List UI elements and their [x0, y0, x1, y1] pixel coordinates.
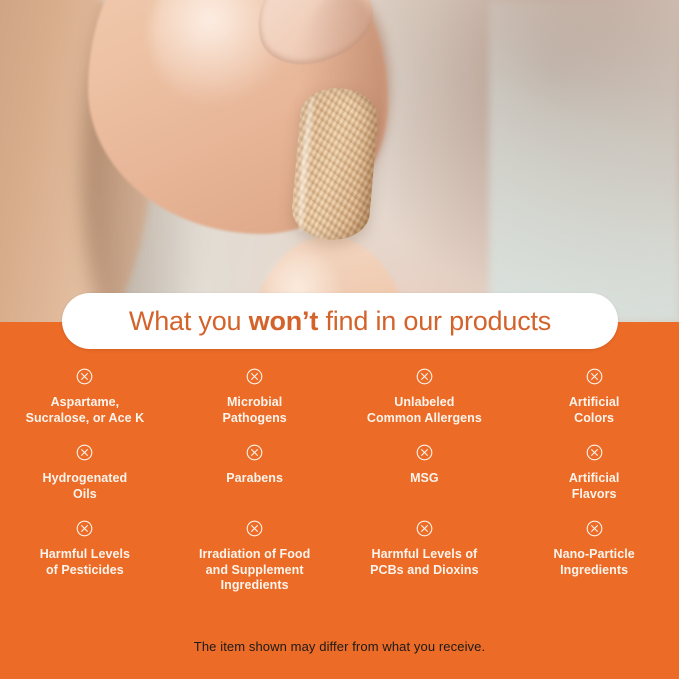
- circle-x-icon: [416, 444, 433, 461]
- excluded-item: Harmful Levels of Pesticides: [0, 520, 170, 594]
- headline-text: What you won’t find in our products: [129, 306, 551, 337]
- excluded-item-label: Unlabeled Common Allergens: [367, 395, 482, 426]
- excluded-item-label: Microbial Pathogens: [222, 395, 286, 426]
- excluded-item: Unlabeled Common Allergens: [340, 368, 510, 426]
- excluded-item: Nano-Particle Ingredients: [509, 520, 679, 594]
- disclaimer-text: The item shown may differ from what you …: [0, 639, 679, 654]
- excluded-item-label: MSG: [410, 471, 439, 487]
- circle-x-icon: [416, 368, 433, 385]
- excluded-item-label: Irradiation of Food and Supplement Ingre…: [199, 547, 310, 594]
- photo-right-background-wash: [489, 0, 679, 322]
- circle-x-icon: [246, 368, 263, 385]
- excluded-item: Hydrogenated Oils: [0, 444, 170, 502]
- excluded-ingredients-grid: Aspartame, Sucralose, or Ace KMicrobial …: [0, 368, 679, 594]
- excluded-item: Microbial Pathogens: [170, 368, 340, 426]
- excluded-item: MSG: [340, 444, 510, 502]
- product-infographic: What you won’t find in our products Aspa…: [0, 0, 679, 679]
- excluded-item-label: Aspartame, Sucralose, or Ace K: [26, 395, 145, 426]
- headline-text-after: find in our products: [318, 306, 551, 336]
- headline-text-emphasis: won’t: [249, 306, 318, 336]
- excluded-item-label: Artificial Flavors: [569, 471, 620, 502]
- excluded-item: Artificial Colors: [509, 368, 679, 426]
- excluded-item: Artificial Flavors: [509, 444, 679, 502]
- headline-text-before: What you: [129, 306, 249, 336]
- circle-x-icon: [76, 444, 93, 461]
- excluded-item-label: Harmful Levels of PCBs and Dioxins: [370, 547, 478, 578]
- circle-x-icon: [586, 444, 603, 461]
- circle-x-icon: [246, 520, 263, 537]
- excluded-item-label: Harmful Levels of Pesticides: [40, 547, 130, 578]
- circle-x-icon: [586, 368, 603, 385]
- circle-x-icon: [246, 444, 263, 461]
- excluded-item: Harmful Levels of PCBs and Dioxins: [340, 520, 510, 594]
- circle-x-icon: [76, 368, 93, 385]
- circle-x-icon: [586, 520, 603, 537]
- circle-x-icon: [76, 520, 93, 537]
- headline-banner: What you won’t find in our products: [62, 293, 618, 349]
- excluded-item: Parabens: [170, 444, 340, 502]
- excluded-item-label: Nano-Particle Ingredients: [554, 547, 635, 578]
- circle-x-icon: [416, 520, 433, 537]
- excluded-item-label: Parabens: [226, 471, 283, 487]
- product-photo: [0, 0, 679, 322]
- excluded-item-label: Artificial Colors: [569, 395, 620, 426]
- excluded-item-label: Hydrogenated Oils: [43, 471, 128, 502]
- excluded-item: Aspartame, Sucralose, or Ace K: [0, 368, 170, 426]
- excluded-item: Irradiation of Food and Supplement Ingre…: [170, 520, 340, 594]
